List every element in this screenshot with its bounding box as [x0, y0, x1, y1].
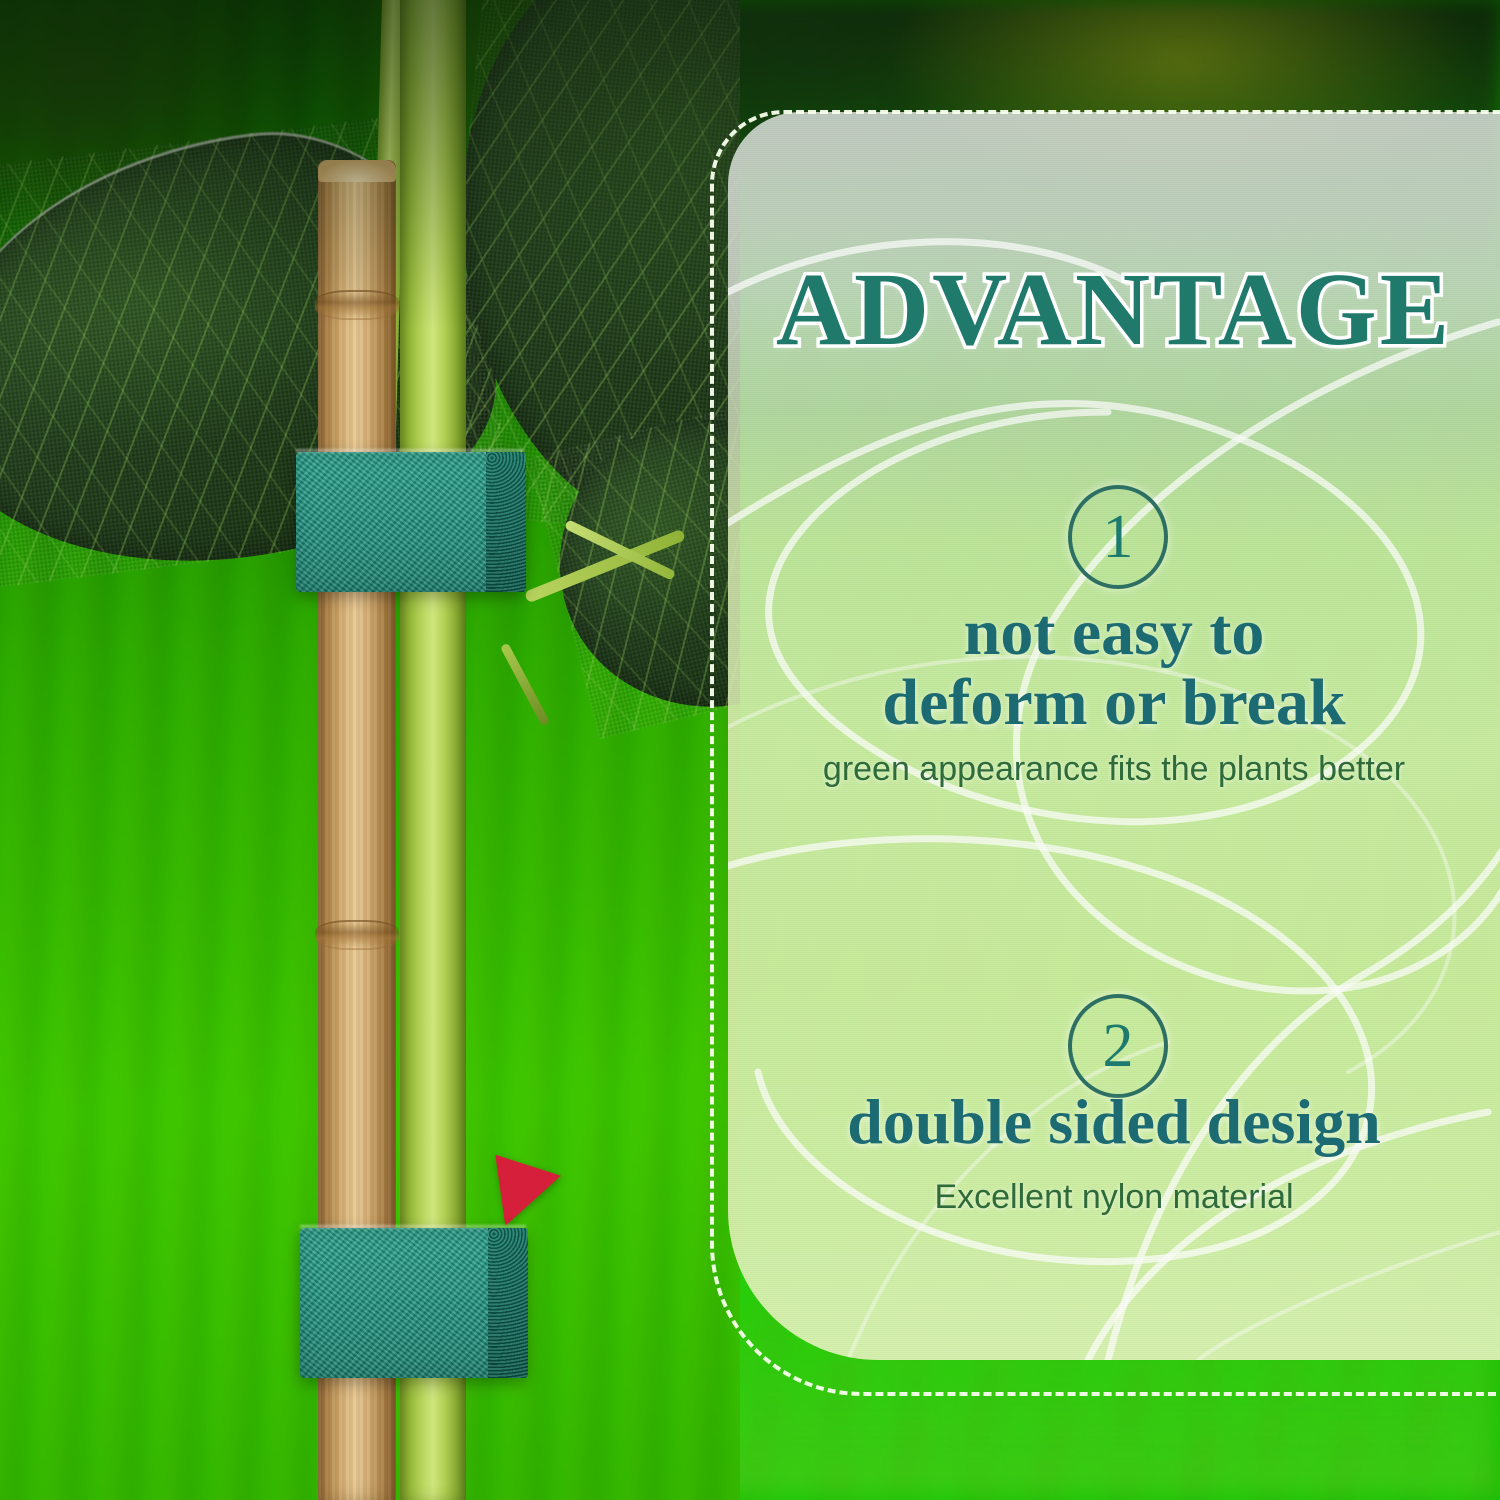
advantage-1-headline-line1: not easy to [728, 598, 1500, 668]
advantage-1-subline: green appearance fits the plants better [728, 750, 1500, 789]
product-advantage-graphic: ADVANTAGE ADVANTAGE 1 not easy to deform… [0, 0, 1500, 1500]
advantage-2-headline-line1: double sided design [728, 1088, 1500, 1156]
panel-title: ADVANTAGE [728, 258, 1500, 362]
advantage-2-headline: double sided design [728, 1088, 1500, 1156]
product-photo [0, 0, 740, 1500]
advantage-number-2: 2 [1068, 994, 1168, 1098]
advantage-1-headline-line2: deform or break [728, 668, 1500, 738]
advantage-1-headline: not easy to deform or break [728, 598, 1500, 738]
advantage-number-1-label: 1 [1103, 502, 1134, 573]
photo-vignette [0, 0, 740, 1500]
advantage-number-1: 1 [1068, 485, 1168, 589]
advantage-number-2-label: 2 [1103, 1011, 1134, 1082]
advantage-2-subline: Excellent nylon material [728, 1178, 1500, 1217]
